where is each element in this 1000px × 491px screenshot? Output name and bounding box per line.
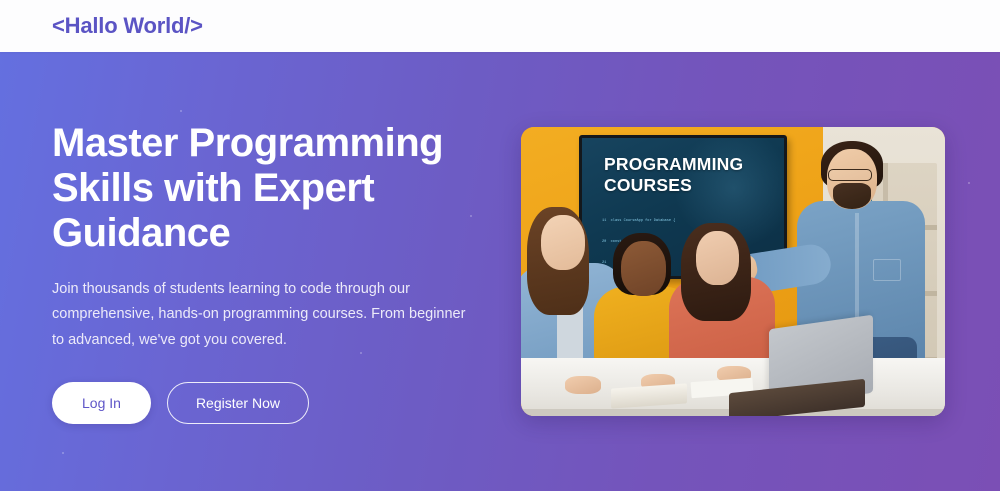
- hero-title: Master Programming Skills with Expert Gu…: [52, 121, 452, 257]
- student-right-head: [696, 231, 739, 285]
- landing-page: <Hallo World/> Master Programming Skills…: [0, 0, 1000, 491]
- student-center-head: [621, 241, 666, 296]
- student-left-head: [541, 215, 585, 270]
- screen-title-line2: COURSES: [604, 175, 692, 195]
- brand-logo[interactable]: <Hallo World/>: [52, 13, 203, 39]
- login-button[interactable]: Log In: [52, 382, 151, 424]
- instructor-shirt-pocket: [873, 259, 901, 281]
- hero-copy: Master Programming Skills with Expert Gu…: [52, 121, 482, 424]
- register-button[interactable]: Register Now: [167, 382, 309, 424]
- hero-section: Master Programming Skills with Expert Gu…: [0, 52, 1000, 491]
- site-header: <Hallo World/>: [0, 0, 1000, 52]
- hero-actions: Log In Register Now: [52, 382, 482, 424]
- student-left-hands: [565, 376, 601, 394]
- hero-image: PROGRAMMING COURSES 11 class CourseApp f…: [521, 127, 945, 416]
- hero-subtitle: Join thousands of students learning to c…: [52, 277, 467, 354]
- code-line: 11 class CourseApp for Database {: [602, 218, 778, 225]
- instructor-glasses: [828, 169, 872, 181]
- screen-title-line1: PROGRAMMING: [604, 154, 743, 174]
- classroom-illustration: PROGRAMMING COURSES 11 class CourseApp f…: [521, 127, 945, 416]
- screen-title: PROGRAMMING COURSES: [604, 154, 743, 195]
- instructor-beard: [833, 183, 871, 209]
